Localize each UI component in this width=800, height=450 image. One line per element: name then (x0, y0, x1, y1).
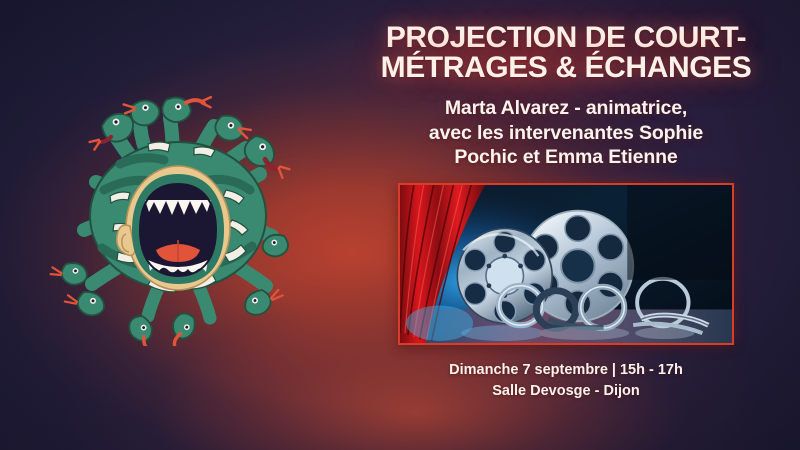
event-venue: Salle Devosge - Dijon (356, 381, 776, 402)
page-title: PROJECTION DE COURT- MÉTRAGES & ÉCHANGES (360, 23, 772, 82)
title-line-2: MÉTRAGES & ÉCHANGES (360, 53, 772, 83)
medusa-screaming-head-logo (44, 78, 312, 346)
subtitle-line-1: Marta Alvarez - animatrice, (368, 96, 764, 120)
subtitle-line-2: avec les intervenantes Sophie (368, 121, 764, 145)
event-date-time: Dimanche 7 septembre | 15h - 17h (356, 360, 776, 381)
event-details: Dimanche 7 septembre | 15h - 17h Salle D… (356, 360, 776, 402)
poster-content: PROJECTION DE COURT- MÉTRAGES & ÉCHANGES… (332, 0, 800, 450)
title-line-1: PROJECTION DE COURT- (360, 23, 772, 53)
event-poster: PROJECTION DE COURT- MÉTRAGES & ÉCHANGES… (0, 0, 800, 450)
film-reels-photo (398, 183, 734, 345)
speakers-subtitle: Marta Alvarez - animatrice, avec les int… (368, 96, 764, 169)
subtitle-line-3: Pochic et Emma Etienne (368, 145, 764, 169)
